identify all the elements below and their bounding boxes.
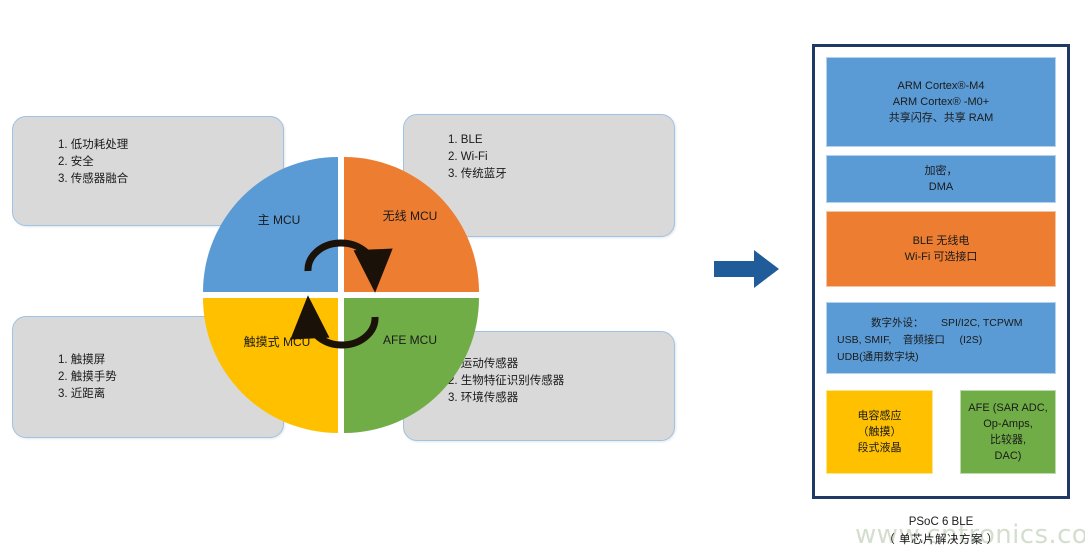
feature-item: 2. 触摸手势 [58,369,117,386]
block-digital-peripherals[interactable]: 数字外设： SPI/I2C, TCPWM USB, SMIF, 音频接口 (I2… [826,302,1056,374]
block-line: DAC) [995,448,1022,464]
mcu-quadrant-wheel: 主 MCU 无线 MCU 触摸式 MCU AFE MCU [203,157,479,433]
feature-list-touch-mcu: 1. 触摸屏 2. 触摸手势 3. 近距离 [58,352,117,403]
block-line: Wi-Fi 可选接口 [905,249,978,265]
block-line: AFE (SAR ADC, [968,400,1047,416]
feature-item: 1. 触摸屏 [58,352,117,369]
feature-item: 1. 低功耗处理 [58,137,128,154]
block-line: 比较器, [990,432,1026,448]
right-arrow-icon [714,248,780,290]
block-line: 数字外设： SPI/I2C, TCPWM [837,315,1045,332]
block-line: 电容感应 [858,408,902,424]
block-cpu[interactable]: ARM Cortex®-M4 ARM Cortex® -M0+ 共享闪存、共享 … [826,57,1056,147]
quadrant-label-main-mcu: 主 MCU [229,211,329,228]
caption-line-1: PSoC 6 BLE [909,516,974,528]
block-line: 共享闪存、共享 RAM [889,110,994,126]
quadrant-label-wireless-mcu: 无线 MCU [355,207,465,224]
block-line: UDB(通用数字块) [837,349,1045,366]
block-line: USB, SMIF, 音频接口 (I2S) [837,332,1045,349]
feature-item: 3. 近距离 [58,386,117,403]
block-capsense[interactable]: 电容感应 （触摸） 段式液晶 [826,390,933,474]
diagram-caption: PSoC 6 BLE （ 单芯片解决方案 ） [812,513,1070,549]
diagram-canvas: 1. 低功耗处理 2. 安全 3. 传感器融合 1. BLE 2. Wi-Fi … [0,0,1085,559]
feature-item: 1. BLE [448,132,507,149]
quadrant-wireless-mcu[interactable] [344,157,479,292]
quadrant-label-afe-mcu: AFE MCU [355,333,465,347]
quadrant-touch-mcu[interactable] [203,298,338,433]
block-line: BLE 无线电 [913,233,970,249]
block-line: DMA [929,179,953,195]
block-line: 段式液晶 [858,440,902,456]
feature-list-main-mcu: 1. 低功耗处理 2. 安全 3. 传感器融合 [58,137,128,188]
psoc6-block-diagram: ARM Cortex®-M4 ARM Cortex® -M0+ 共享闪存、共享 … [812,44,1070,499]
quadrant-afe-mcu[interactable] [344,298,479,433]
block-line: （触摸） [858,424,902,440]
caption-line-2: （ 单芯片解决方案 ） [812,531,1070,549]
block-line: ARM Cortex® -M0+ [893,94,989,110]
block-line: ARM Cortex®-M4 [898,78,985,94]
block-crypto-dma[interactable]: 加密， DMA [826,155,1056,203]
feature-item: 2. 安全 [58,154,128,171]
block-radio[interactable]: BLE 无线电 Wi-Fi 可选接口 [826,211,1056,287]
block-line: Op-Amps, [983,416,1033,432]
block-afe[interactable]: AFE (SAR ADC, Op-Amps, 比较器, DAC) [960,390,1056,474]
feature-item: 3. 传感器融合 [58,171,128,188]
quadrant-label-touch-mcu: 触摸式 MCU [217,333,337,350]
block-line: 加密， [925,163,958,179]
